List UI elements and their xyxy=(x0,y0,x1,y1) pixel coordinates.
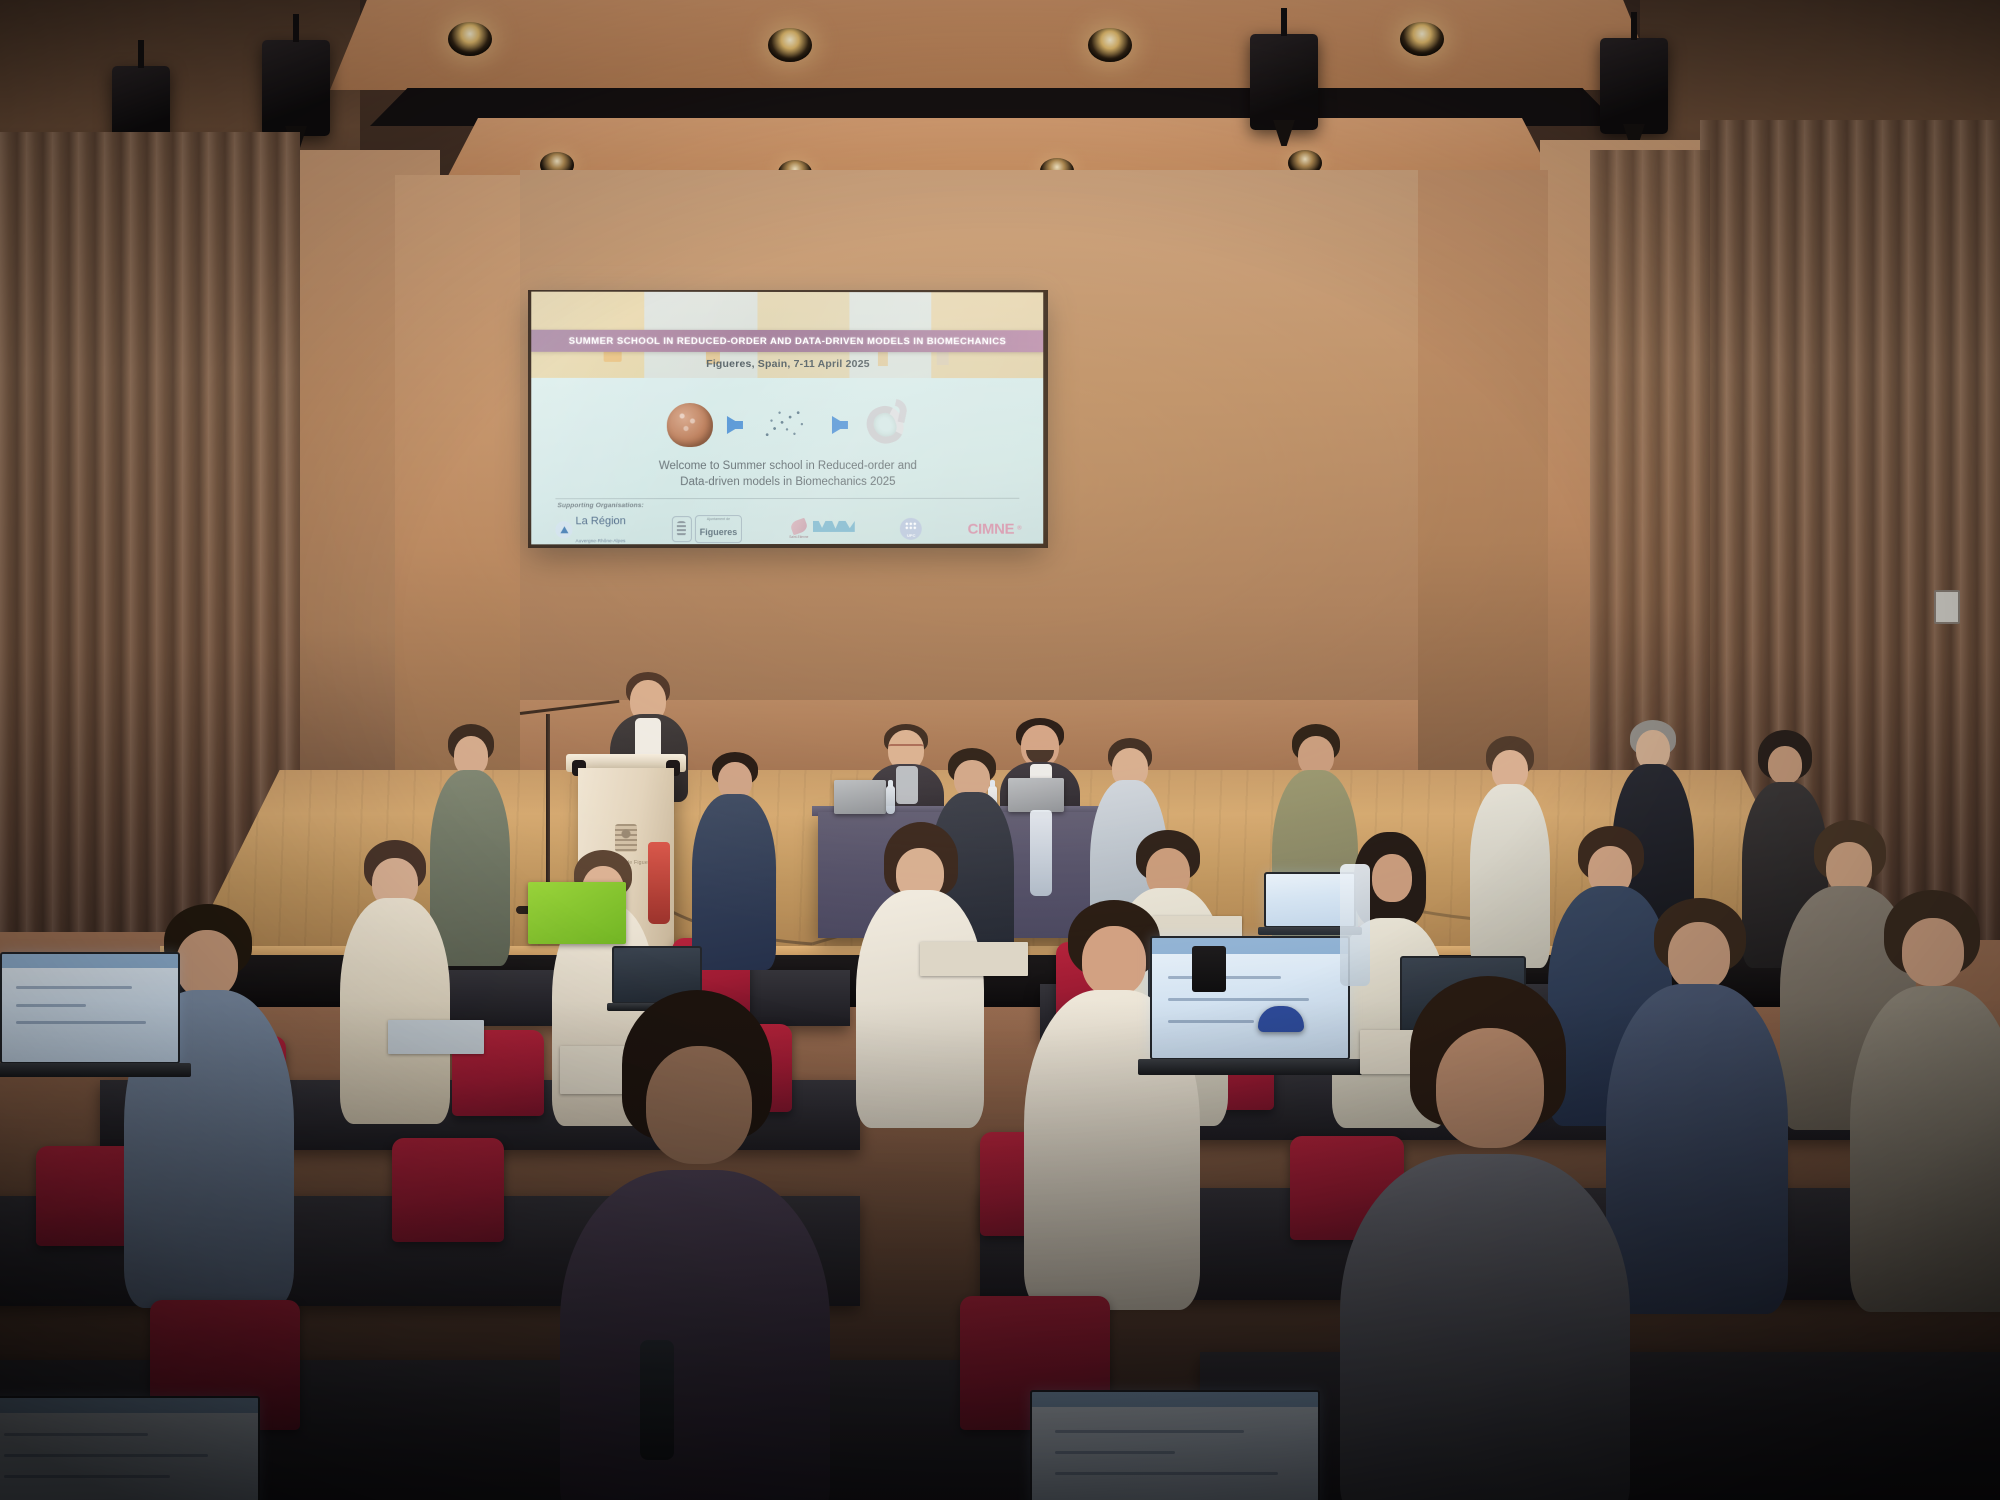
exit-sign-icon xyxy=(1934,590,1960,624)
audience-member xyxy=(340,840,450,1120)
wall-right-inner-panel xyxy=(1418,170,1548,790)
logo-cimne-primary: CIMNE xyxy=(968,520,1015,537)
logo-upc: UPC xyxy=(900,518,922,540)
organ-model-icon xyxy=(861,402,909,448)
slide-supporting-label: Supporting Organisations: xyxy=(557,502,643,509)
ceiling-speaker-icon xyxy=(1600,38,1668,134)
slide-logo-row: La Région Auvergne-Rhône-Alpes Ajuntamen… xyxy=(555,514,1021,545)
brain-scan-icon xyxy=(667,403,713,447)
audience-laptop xyxy=(0,952,180,1064)
logo-upc-primary: UPC xyxy=(900,533,922,538)
logo-la-region: La Région Auvergne-Rhône-Alpes xyxy=(555,511,625,544)
water-bottle xyxy=(886,786,895,814)
audience-laptop-foreground xyxy=(1030,1390,1320,1500)
upc-grid-icon: UPC xyxy=(900,518,922,540)
coffee-cup xyxy=(1192,946,1226,992)
wall-left-inner-panel xyxy=(395,175,530,795)
green-folder xyxy=(528,882,626,944)
water-bottle xyxy=(1340,864,1370,986)
logo-la-region-secondary: Auvergne-Rhône-Alpes xyxy=(575,538,625,543)
blue-arrow-icon xyxy=(832,416,847,434)
logo-figueres-secondary: Ajuntament de xyxy=(700,518,738,522)
water-bottle xyxy=(1030,810,1052,896)
slide-welcome-line-1: Welcome to Summer school in Reduced-orde… xyxy=(531,458,1043,475)
logo-la-region-primary: La Région xyxy=(575,515,625,527)
logo-mines-secondary: Saint-Etienne xyxy=(788,536,810,540)
water-bottle xyxy=(648,842,670,924)
lecture-hall-photo: SUMMER SCHOOL IN REDUCED-ORDER AND DATA-… xyxy=(0,0,2000,1500)
audience-chair xyxy=(392,1138,504,1242)
audience-area xyxy=(0,960,2000,1500)
ceiling-spotlight-icon xyxy=(1088,28,1132,62)
curtain-left xyxy=(0,132,300,932)
point-cloud-icon xyxy=(756,403,818,447)
ceiling-speaker-icon xyxy=(262,40,330,136)
tablet xyxy=(388,1020,484,1054)
panel-laptop xyxy=(1008,778,1064,812)
logo-cimne: CIMNE ® xyxy=(968,520,1022,537)
projection-screen: SUMMER SCHOOL IN REDUCED-ORDER AND DATA-… xyxy=(531,292,1043,545)
blue-arrow-icon xyxy=(727,416,742,434)
panel-laptop xyxy=(834,780,886,814)
partner-institute-icon xyxy=(813,519,855,539)
logo-mines-saint-etienne: Saint-Etienne xyxy=(788,518,855,540)
notebook xyxy=(920,942,1028,976)
water-bottle xyxy=(640,1340,674,1460)
audience-member-foreground xyxy=(560,990,830,1500)
audience-member xyxy=(1470,736,1550,966)
ceiling-spotlight-icon xyxy=(1400,22,1444,56)
slide-title: SUMMER SCHOOL IN REDUCED-ORDER AND DATA-… xyxy=(569,335,1007,346)
slide-divider xyxy=(555,498,1019,499)
audience-laptop-foreground xyxy=(0,1396,260,1500)
logo-ajuntament-figueres: Ajuntament de Figueres xyxy=(672,515,743,543)
figueres-crest-icon xyxy=(615,824,637,852)
ceiling-spotlight-icon xyxy=(768,28,812,62)
audience-member xyxy=(692,752,776,968)
la-region-mark-icon xyxy=(555,521,572,538)
slide-welcome-text: Welcome to Summer school in Reduced-orde… xyxy=(531,458,1043,491)
figueres-crest-icon xyxy=(672,516,692,542)
logo-cimne-registered: ® xyxy=(1017,526,1021,532)
audience-member-foreground xyxy=(1340,976,1630,1500)
slide-date-line: Figueres, Spain, 7-11 April 2025 xyxy=(531,358,1043,370)
slide-title-band: SUMMER SCHOOL IN REDUCED-ORDER AND DATA-… xyxy=(531,330,1043,352)
ceiling-speaker-icon xyxy=(1250,34,1318,130)
logo-figueres-primary: Figueres xyxy=(700,527,738,537)
ceiling-spotlight-icon xyxy=(448,22,492,56)
audience-member xyxy=(1850,890,2000,1310)
slide-welcome-line-2: Data-driven models in Biomechanics 2025 xyxy=(531,474,1043,491)
panelist-left-glasses-icon xyxy=(888,744,924,751)
ceiling-panel-upper xyxy=(330,0,1660,90)
audience-laptop xyxy=(1150,936,1350,1060)
audience-member xyxy=(1606,898,1788,1310)
mines-swirl-icon: Saint-Etienne xyxy=(788,518,810,540)
slide-pipeline-graphic xyxy=(531,396,1043,454)
